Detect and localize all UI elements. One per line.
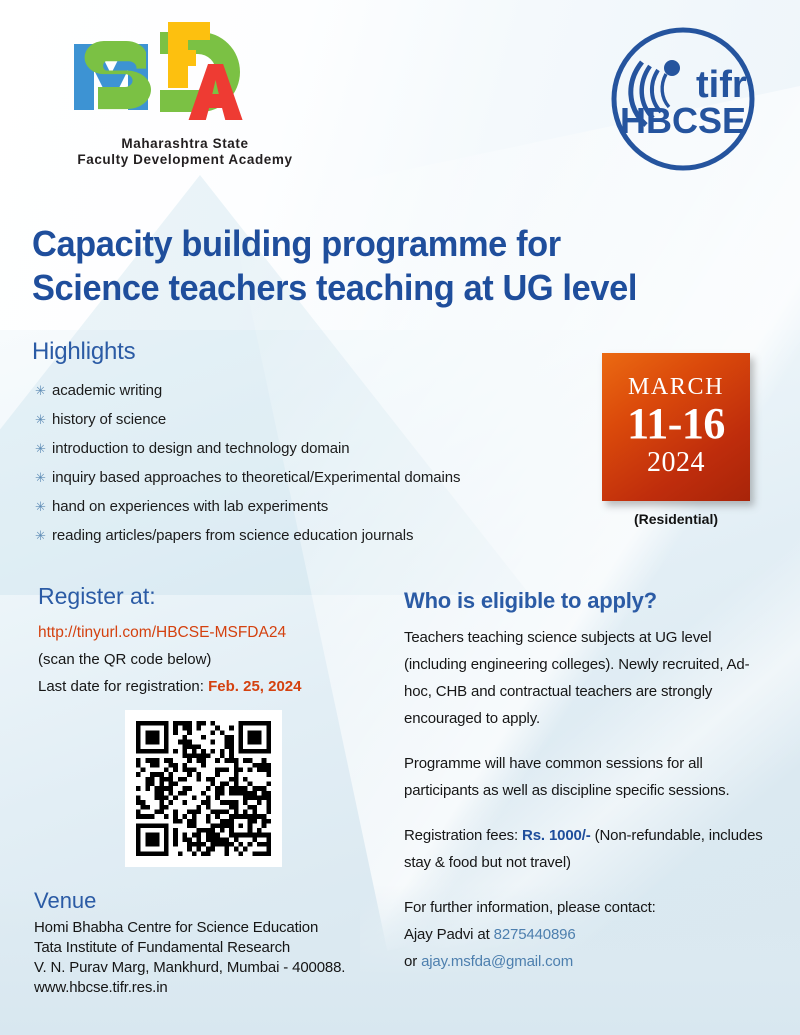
highlight-item: ✳history of science xyxy=(32,405,592,434)
register-last-date-label: Last date for registration: xyxy=(38,678,208,695)
contact-or-label: or xyxy=(404,953,421,970)
qr-code-container[interactable] xyxy=(125,710,282,867)
date-year: 2024 xyxy=(647,448,705,479)
venue-address: Homi Bhabha Centre for Science Education… xyxy=(34,918,404,998)
eligibility-heading: Who is eligible to apply? xyxy=(404,588,764,614)
msfda-name-line2: Faculty Development Academy xyxy=(60,152,310,168)
page-title-line1: Capacity building programme for xyxy=(32,222,720,266)
eligibility-section: Who is eligible to apply? Teachers teach… xyxy=(404,588,764,975)
fees-label: Registration fees: xyxy=(404,827,522,844)
venue-address-line: Tata Institute of Fundamental Research xyxy=(34,938,404,958)
msfda-logo-icon xyxy=(60,22,260,132)
tifr-hbcse-logo: tifr HBCSE xyxy=(608,24,758,174)
highlight-item-label: introduction to design and technology do… xyxy=(52,434,349,463)
contact-phone[interactable]: 8275440896 xyxy=(494,926,576,943)
register-last-date: Last date for registration: Feb. 25, 202… xyxy=(38,673,388,700)
highlight-item: ✳hand on experiences with lab experiment… xyxy=(32,492,592,521)
venue-address-line: www.hbcse.tifr.res.in xyxy=(34,978,404,998)
highlight-item: ✳inquiry based approaches to theoretical… xyxy=(32,463,592,492)
highlight-item: ✳reading articles/papers from science ed… xyxy=(32,521,592,550)
highlights-list: ✳academic writing✳history of science✳int… xyxy=(32,376,592,550)
highlight-item-label: inquiry based approaches to theoretical/… xyxy=(52,463,460,492)
venue-heading: Venue xyxy=(34,888,404,914)
highlight-bullet-icon: ✳ xyxy=(32,521,52,550)
highlight-item-label: hand on experiences with lab experiments xyxy=(52,492,328,521)
date-month: MARCH xyxy=(628,375,724,400)
poster-canvas: Maharashtra State Faculty Development Ac… xyxy=(0,0,800,1035)
fees-amount: Rs. 1000/- xyxy=(522,827,591,844)
eligibility-paragraph-2: Programme will have common sessions for … xyxy=(404,750,764,804)
highlights-section: Highlights ✳academic writing✳history of … xyxy=(32,338,592,550)
page-title-line2: Science teachers teaching at UG level xyxy=(32,266,720,310)
tifr-hbcse-logo-icon: tifr HBCSE xyxy=(608,24,758,174)
hbcse-wordmark: HBCSE xyxy=(620,100,746,141)
register-heading: Register at: xyxy=(38,583,388,610)
venue-address-line: V. N. Purav Marg, Mankhurd, Mumbai - 400… xyxy=(34,958,404,978)
register-url-link[interactable]: http://tinyurl.com/HBCSE-MSFDA24 xyxy=(38,619,388,646)
highlight-item-label: history of science xyxy=(52,405,166,434)
highlight-bullet-icon: ✳ xyxy=(32,492,52,521)
date-residential-note: (Residential) xyxy=(592,511,760,527)
highlight-bullet-icon: ✳ xyxy=(32,405,52,434)
date-days: 11-16 xyxy=(627,400,725,448)
highlight-item-label: academic writing xyxy=(52,376,162,405)
venue-section: Venue Homi Bhabha Centre for Science Edu… xyxy=(34,888,404,998)
contact-intro: For further information, please contact: xyxy=(404,899,656,916)
eligibility-paragraph-1: Teachers teaching science subjects at UG… xyxy=(404,624,764,732)
highlight-item: ✳introduction to design and technology d… xyxy=(32,434,592,463)
date-badge-box: MARCH 11-16 2024 xyxy=(602,353,750,501)
register-last-date-value: Feb. 25, 2024 xyxy=(208,678,301,695)
msfda-logo-name: Maharashtra State Faculty Development Ac… xyxy=(60,136,310,168)
msfda-name-line1: Maharashtra State xyxy=(60,136,310,152)
contact-email[interactable]: ajay.msfda@gmail.com xyxy=(421,953,573,970)
qr-code-icon[interactable] xyxy=(136,721,271,856)
contact-name-label: Ajay Padvi at xyxy=(404,926,494,943)
highlight-item: ✳academic writing xyxy=(32,376,592,405)
highlight-item-label: reading articles/papers from science edu… xyxy=(52,521,413,550)
msfda-logo: Maharashtra State Faculty Development Ac… xyxy=(60,22,310,168)
venue-address-line: Homi Bhabha Centre for Science Education xyxy=(34,918,404,938)
register-scan-note: (scan the QR code below) xyxy=(38,646,388,673)
date-badge: MARCH 11-16 2024 (Residential) xyxy=(592,353,760,527)
register-section: Register at: http://tinyurl.com/HBCSE-MS… xyxy=(38,583,388,700)
highlight-bullet-icon: ✳ xyxy=(32,463,52,492)
contact-block: For further information, please contact:… xyxy=(404,894,764,975)
registration-fees: Registration fees: Rs. 1000/- (Non-refun… xyxy=(404,822,764,876)
highlights-heading: Highlights xyxy=(32,338,592,366)
highlight-bullet-icon: ✳ xyxy=(32,434,52,463)
highlight-bullet-icon: ✳ xyxy=(32,376,52,405)
page-title: Capacity building programme for Science … xyxy=(32,222,720,310)
